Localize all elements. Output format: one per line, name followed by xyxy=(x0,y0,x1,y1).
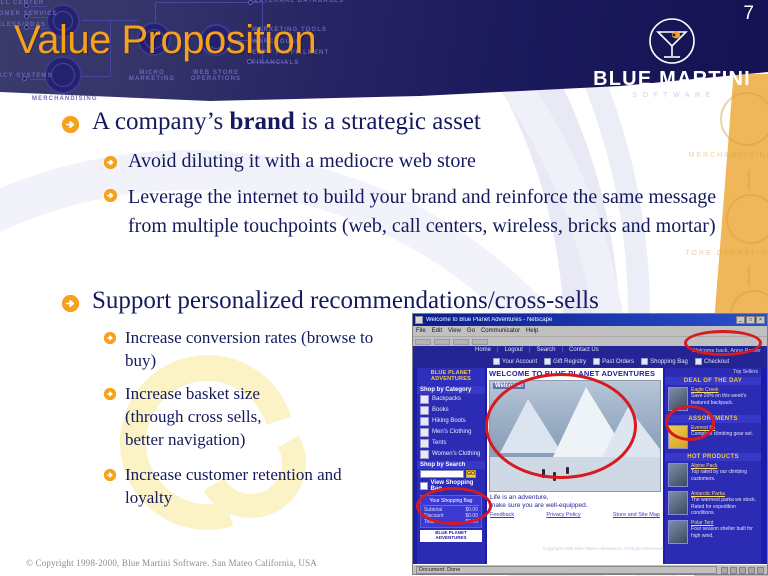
site-right-block-hot-3: Polar Tent Four season shelter built for… xyxy=(665,518,761,546)
nav-separator: | xyxy=(562,347,564,353)
site-nav-past-orders[interactable]: Past Orders xyxy=(593,358,634,365)
site-right-heading-deal: DEAL OF THE DAY xyxy=(665,377,761,385)
header-label-legacy: LEGACY SYSTEMS xyxy=(0,73,53,79)
arrow-circle-icon xyxy=(104,388,116,400)
site-sidebar-item-books-label: Books xyxy=(432,407,449,413)
site-sidebar: BLUE PLANET ADVENTURES Shop by Category … xyxy=(417,368,485,564)
site-right-block-hot-1: Alpine Pack Top rated by our climbing cu… xyxy=(665,461,761,489)
site-sidebar-search-row: GO xyxy=(417,469,485,479)
site-nav-shopping-bag-label: Shopping Bag xyxy=(650,359,688,365)
site-nav-secondary: Your Account Gift Registry Past Orders S… xyxy=(493,358,729,365)
embedded-browser-screenshot: Welcome to Blue Planet Adventures - Nets… xyxy=(412,313,768,575)
site-bottom-copyright: Copyright 1999 Blue Planet Adventures. A… xyxy=(543,546,665,551)
brand-logo-tagline: SOFTWARE xyxy=(592,92,752,99)
bullet-text-personalized-recs: Support personalized recommendations/cro… xyxy=(92,287,599,315)
site-sidebar-item-womens-clothing[interactable]: Women's Clothing xyxy=(417,449,485,460)
slide-copyright: © Copyright 1998-2000, Blue Martini Soft… xyxy=(26,558,317,568)
status-news-icon[interactable] xyxy=(748,567,755,574)
bullet-item-customer-retention: Increase customer retention and loyalty xyxy=(104,464,384,510)
site-sidebar-shop-by-category-heading: Shop by Category xyxy=(417,386,485,394)
bullet-text-part-before: A company’s xyxy=(92,108,230,135)
bullet-text-part-after: is a strategic asset xyxy=(295,108,481,135)
site-nav-logout[interactable]: Logout xyxy=(505,347,523,353)
browser-title-text: Welcome to Blue Planet Adventures - Nets… xyxy=(426,317,736,323)
bullet-text-leverage-internet: Leverage the internet to build your bran… xyxy=(128,183,752,241)
bullet-text-conversion-rates: Increase conversion rates (browse to buy… xyxy=(125,327,374,373)
close-button[interactable]: × xyxy=(756,316,765,324)
site-welcome-user: Welcome back, Anne Parker xyxy=(692,348,761,354)
browser-status-icons xyxy=(721,567,764,574)
site-nav-checkout-label: Checkout xyxy=(704,359,729,365)
site-sidebar-footer-logo: BLUE PLANET ADVENTURES xyxy=(420,530,482,542)
status-security-icon[interactable] xyxy=(721,567,728,574)
page-title: Value Proposition xyxy=(14,18,316,63)
slide-header: CALL CENTER CUSTOMER SERVICE WIRELESS/PD… xyxy=(0,0,768,104)
site-hero-caption-line1: Life is an adventure, xyxy=(490,494,549,501)
arrow-circle-icon xyxy=(104,189,117,202)
arrow-circle-icon xyxy=(104,156,117,169)
header-label-merchandising: MERCHANDISING xyxy=(32,96,98,102)
bullet-item-brand-asset: A company’s brand is a strategic asset xyxy=(62,108,682,136)
site-sidebar-item-hiking-boots[interactable]: Hiking Boots xyxy=(417,416,485,427)
site-right-heading-hot-products: HOT PRODUCTS xyxy=(665,453,761,461)
status-composer-icon[interactable] xyxy=(757,567,764,574)
site-hero-image: Welcome! xyxy=(489,380,661,492)
site-right-panel: Top Sellers DEAL OF THE DAY Eagle Creek … xyxy=(665,368,761,564)
toolbar-reload-button[interactable] xyxy=(453,339,469,345)
site-right-top-label: Top Sellers xyxy=(665,368,761,375)
site-sidebar-item-books[interactable]: Books xyxy=(417,405,485,416)
site-footer-links: Feedback Privacy Policy Store and Site M… xyxy=(487,511,663,519)
site-sidebar-shop-by-search-heading: Shop by Search xyxy=(417,461,485,469)
menu-item-edit[interactable]: Edit xyxy=(432,328,442,334)
orders-icon xyxy=(593,358,600,365)
site-nav-gift-registry-label: Gift Registry xyxy=(553,359,586,365)
bullet-item-conversion-rates: Increase conversion rates (browse to buy… xyxy=(104,327,374,373)
browser-page-viewport: Home | Logout | Search | Contact Us Your… xyxy=(413,346,767,564)
site-nav-your-account-label: Your Account xyxy=(502,359,537,365)
martini-glass-icon xyxy=(647,16,697,66)
menu-item-help[interactable]: Help xyxy=(526,328,538,334)
shopping-bag-icon xyxy=(420,482,428,490)
deal-copy: Eagle Creek Save 20% on this week's feat… xyxy=(691,387,758,411)
header-label-web-store: WEB STORE OPERATIONS xyxy=(190,70,242,82)
bullet-text-brand-asset: A company’s brand is a strategic asset xyxy=(92,108,481,136)
site-sidebar-logo: BLUE PLANET ADVENTURES xyxy=(417,368,485,385)
site-nav-contact[interactable]: Contact Us xyxy=(569,347,599,353)
site-nav-checkout[interactable]: Checkout xyxy=(695,358,729,365)
hot-product-description: Top rated by our climbing customers. xyxy=(691,469,747,481)
site-sidebar-item-mens-clothing[interactable]: Men's Clothing xyxy=(417,427,485,438)
slide-canvas: MERCHANDISING WEB STORE OPERATIONS xyxy=(0,0,768,576)
site-sidebar-bag-summary: Your Shopping Bag Subtotal$0.00 Discount… xyxy=(420,495,482,528)
header-label-call-center: CALL CENTER xyxy=(0,0,44,6)
bullet-text-customer-retention: Increase customer retention and loyalty xyxy=(125,464,384,510)
site-sidebar-item-mens-clothing-label: Men's Clothing xyxy=(432,429,472,435)
site-sidebar-view-bag-button[interactable]: View Shopping Bag xyxy=(417,479,485,493)
backpack-icon xyxy=(420,395,429,404)
boot-icon xyxy=(420,417,429,426)
shirt-icon xyxy=(420,428,429,437)
hot-product-thumbnail xyxy=(668,520,688,544)
site-right-block-deal: Eagle Creek Save 20% on this week's feat… xyxy=(665,385,761,413)
menu-item-go[interactable]: Go xyxy=(467,328,475,334)
menu-item-communicator[interactable]: Communicator xyxy=(481,328,520,334)
hot-product-thumbnail xyxy=(668,463,688,487)
site-link-privacy-policy[interactable]: Privacy Policy xyxy=(546,512,580,518)
account-icon xyxy=(493,358,500,365)
header-label-external-db: EXTERNAL DATABASES xyxy=(254,0,344,4)
bag-row-label: Total xyxy=(424,519,435,525)
bag-icon xyxy=(641,358,648,365)
site-sidebar-view-bag-label: View Shopping Bag xyxy=(431,480,482,492)
bullet-text-avoid-diluting: Avoid diluting it with a mediocre web st… xyxy=(128,150,476,172)
maximize-button[interactable]: □ xyxy=(746,316,755,324)
status-print-icon[interactable] xyxy=(730,567,737,574)
bullet-item-leverage-internet: Leverage the internet to build your bran… xyxy=(104,183,752,241)
hot-product-thumbnail xyxy=(668,491,688,515)
site-hero-badge: Welcome! xyxy=(493,383,525,389)
site-top-nav: Home | Logout | Search | Contact Us Your… xyxy=(413,346,767,368)
toolbar-home-button[interactable] xyxy=(472,339,488,345)
hot-product-description: The warmest parka we stock. Rated for ex… xyxy=(691,497,756,516)
arrow-circle-icon xyxy=(104,332,116,344)
assortment-description: Complete climbing gear set. xyxy=(691,431,753,437)
browser-status-text: Document: Done xyxy=(416,566,717,574)
bullet-item-basket-size: Increase basket size (through cross sell… xyxy=(104,383,304,452)
brand-logo: BLUE MARTINI SOFTWARE xyxy=(592,16,752,99)
toolbar-back-button[interactable] xyxy=(415,339,431,345)
site-right-block-hot-2: Antarctic Parka The warmest parka we sto… xyxy=(665,489,761,518)
hot-product-copy: Polar Tent Four season shelter built for… xyxy=(691,520,758,544)
site-sidebar-footer-logo-line2: ADVENTURES xyxy=(435,535,466,540)
site-nav-primary: Home | Logout | Search | Contact Us xyxy=(475,347,599,353)
checkout-icon xyxy=(695,358,702,365)
site-sidebar-item-hiking-boots-label: Hiking Boots xyxy=(432,418,466,424)
site-sidebar-item-backpacks-label: Backpacks xyxy=(432,396,461,402)
browser-titlebar: Welcome to Blue Planet Adventures - Nets… xyxy=(413,314,767,326)
menu-item-file[interactable]: File xyxy=(416,328,426,334)
site-nav-search[interactable]: Search xyxy=(537,347,556,353)
browser-window-buttons: _ □ × xyxy=(736,316,765,324)
bullet-item-personalized-recs: Support personalized recommendations/cro… xyxy=(62,287,762,315)
site-sidebar-bag-row: Total$0.00 xyxy=(423,519,479,525)
assortment-copy: Everest Kit Complete climbing gear set. xyxy=(691,425,753,449)
arrow-circle-icon xyxy=(104,469,116,481)
deal-product-thumbnail xyxy=(668,387,688,411)
site-link-store-site-map[interactable]: Store and Site Map xyxy=(613,512,660,518)
site-hero-caption-line2: make sure you are well-equipped. xyxy=(490,502,588,509)
hot-product-copy: Alpine Pack Top rated by our climbing cu… xyxy=(691,463,758,487)
site-nav-your-account[interactable]: Your Account xyxy=(493,358,537,365)
toolbar-forward-button[interactable] xyxy=(434,339,450,345)
header-label-customer-service: CUSTOMER SERVICE xyxy=(0,11,58,17)
site-sidebar-item-womens-clothing-label: Women's Clothing xyxy=(432,451,480,457)
bullet-item-avoid-diluting: Avoid diluting it with a mediocre web st… xyxy=(104,150,704,172)
site-sidebar-logo-line2: ADVENTURES xyxy=(431,376,471,382)
site-sidebar-search-input[interactable] xyxy=(420,470,464,478)
site-sidebar-bag-title: Your Shopping Bag xyxy=(423,498,479,506)
bullet-text-basket-size: Increase basket size (through cross sell… xyxy=(125,383,304,452)
site-main-heading: WELCOME TO BLUE PLANET ADVENTURES xyxy=(487,368,663,379)
nav-separator: | xyxy=(497,347,499,353)
browser-statusbar: Document: Done xyxy=(413,564,767,575)
site-link-feedback[interactable]: Feedback xyxy=(490,512,514,518)
status-mail-icon[interactable] xyxy=(739,567,746,574)
deal-description: Save 20% on this week's featured backpac… xyxy=(691,393,746,405)
tent-icon xyxy=(420,439,429,448)
site-nav-home[interactable]: Home xyxy=(475,347,491,353)
site-sidebar-item-tents[interactable]: Tents xyxy=(417,438,485,449)
nav-separator: | xyxy=(529,347,531,353)
bag-row-value: $0.00 xyxy=(465,519,478,525)
hot-product-description: Four season shelter built for high wind. xyxy=(691,526,753,538)
browser-menubar: File Edit View Go Communicator Help xyxy=(413,326,767,337)
site-right-block-assortments: Everest Kit Complete climbing gear set. xyxy=(665,423,761,451)
site-nav-past-orders-label: Past Orders xyxy=(602,359,634,365)
site-sidebar-item-backpacks[interactable]: Backpacks xyxy=(417,394,485,405)
assortment-thumbnail xyxy=(668,425,688,449)
browser-app-icon xyxy=(415,316,423,324)
menu-item-view[interactable]: View xyxy=(448,328,461,334)
site-sidebar-item-tents-label: Tents xyxy=(432,440,446,446)
bullet-text-part-bold: brand xyxy=(230,108,295,135)
hot-product-copy: Antarctic Parka The warmest parka we sto… xyxy=(691,491,758,516)
arrow-circle-icon xyxy=(62,116,79,133)
site-sidebar-search-go-button[interactable]: GO xyxy=(466,470,476,478)
dress-icon xyxy=(420,450,429,459)
minimize-button[interactable]: _ xyxy=(736,316,745,324)
site-main-content: WELCOME TO BLUE PLANET ADVENTURES Welcom… xyxy=(487,368,663,564)
book-icon xyxy=(420,406,429,415)
brand-logo-name: BLUE MARTINI xyxy=(592,68,752,91)
site-hero-caption: Life is an adventure, make sure you are … xyxy=(487,493,663,511)
gift-icon xyxy=(544,358,551,365)
site-nav-gift-registry[interactable]: Gift Registry xyxy=(544,358,586,365)
site-sidebar-logo-line1: BLUE PLANET xyxy=(431,370,472,376)
arrow-circle-icon xyxy=(62,295,79,312)
header-label-micro-marketing: MICRO MARKETING xyxy=(128,70,176,82)
browser-toolbar xyxy=(413,337,767,346)
site-right-heading-assortments: ASSORTMENTS xyxy=(665,415,761,423)
site-nav-shopping-bag[interactable]: Shopping Bag xyxy=(641,358,688,365)
